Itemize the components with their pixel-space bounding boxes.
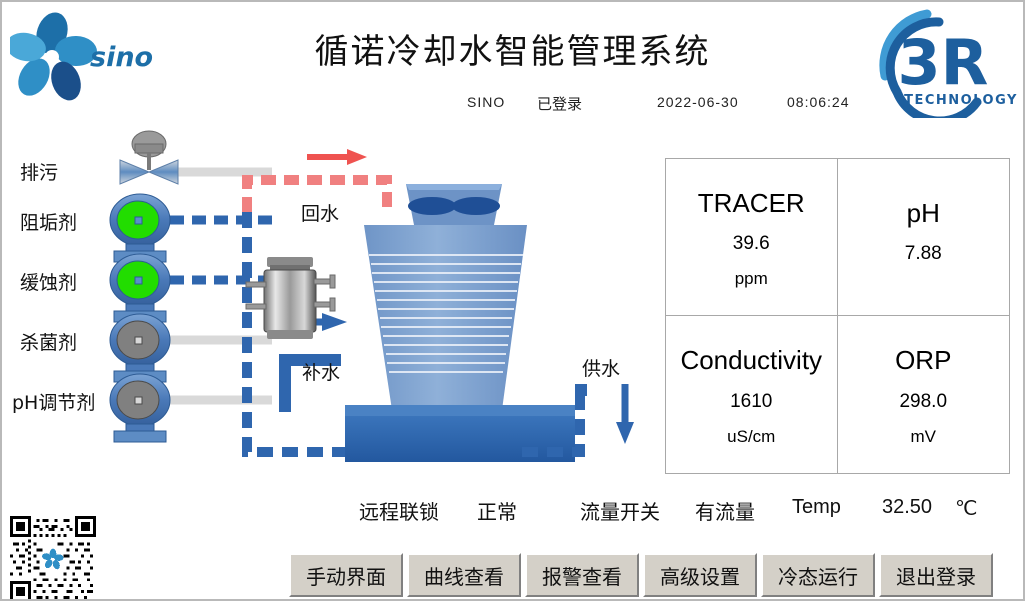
status-bar: 远程联锁 正常 流量开关 有流量 Temp 32.50 ℃ — [2, 496, 1023, 530]
qr-code[interactable] — [10, 516, 96, 601]
measurement-name: pH — [907, 199, 940, 228]
temperature-value: 32.50 — [882, 496, 932, 519]
label-supply-water: 供水 — [582, 354, 620, 381]
flow-switch-value: 有流量 — [695, 496, 755, 525]
supply-water-arrow — [616, 384, 634, 444]
measurement-value: 7.88 — [905, 243, 942, 265]
measurement-name: Conductivity — [680, 346, 822, 375]
cold-run-button[interactable]: 冷态运行 — [761, 553, 875, 597]
measurement-value: 298.0 — [899, 391, 947, 413]
cooling-tower — [345, 184, 575, 462]
label-makeup-water: 补水 — [302, 358, 340, 385]
label-corrosion-inhibitor: 缓蚀剂 — [20, 268, 77, 295]
current-user: SINO — [467, 94, 505, 110]
measurement-unit: mV — [911, 427, 937, 447]
logout-button[interactable]: 退出登录 — [879, 553, 993, 597]
remote-interlock-value: 正常 — [477, 496, 517, 525]
temperature-label: Temp — [792, 496, 841, 519]
manual-interface-button[interactable]: 手动界面 — [289, 553, 403, 597]
advanced-settings-button[interactable]: 高级设置 — [643, 553, 757, 597]
measurement-card-conductivity[interactable]: Conductivity 1610 uS/cm — [666, 316, 838, 473]
measurement-unit: ppm — [735, 269, 768, 289]
alarm-view-button[interactable]: 报警查看 — [525, 553, 639, 597]
process-flow-diagram: 排污 阻垢剂 缓蚀剂 杀菌剂 pH调节剂 回水 补水 供水 — [2, 122, 662, 482]
measurement-value: 39.6 — [733, 233, 770, 255]
measurement-value: 1610 — [730, 391, 772, 413]
dosing-pump-corrosion-inhibitor[interactable] — [110, 254, 170, 322]
supply-pipe-cap — [575, 384, 587, 396]
analyzer-vessel — [246, 257, 335, 339]
flow-switch-label: 流量开关 — [580, 496, 660, 525]
application-window: sino 3R TECHNOLOGY 循诺冷却水智能管理系统 SINO 已登录 … — [0, 0, 1025, 601]
dosing-pump-scale-inhibitor[interactable] — [110, 194, 170, 262]
measurement-card-ph[interactable]: pH 7.88 — [838, 159, 1010, 316]
measurement-card-orp[interactable]: ORP 298.0 mV — [838, 316, 1010, 473]
measurement-unit: uS/cm — [727, 427, 775, 447]
remote-interlock-label: 远程联锁 — [359, 496, 439, 525]
system-date: 2022-06-30 — [657, 94, 739, 110]
page-title: 循诺冷却水智能管理系统 — [2, 24, 1023, 73]
label-scale-inhibitor: 阻垢剂 — [20, 208, 77, 235]
active-dosing-lines — [170, 220, 272, 280]
login-status: 已登录 — [537, 93, 582, 114]
header-info-row: SINO 已登录 2022-06-30 08:06:24 — [2, 94, 1023, 114]
measurement-name: TRACER — [698, 189, 805, 218]
inactive-dosing-lines — [170, 340, 272, 400]
system-time: 08:06:24 — [787, 94, 850, 110]
label-biocide: 杀菌剂 — [20, 328, 77, 355]
measurement-name: ORP — [895, 346, 951, 375]
measurement-panel: TRACER 39.6 ppm pH 7.88 Conductivity 161… — [665, 158, 1010, 474]
measurement-card-tracer[interactable]: TRACER 39.6 ppm — [666, 159, 838, 316]
dosing-pump-biocide[interactable] — [110, 314, 170, 382]
label-ph-adjuster: pH调节剂 — [12, 388, 95, 415]
label-blowdown: 排污 — [20, 158, 58, 185]
curve-view-button[interactable]: 曲线查看 — [407, 553, 521, 597]
temperature-unit: ℃ — [955, 496, 977, 521]
blowdown-valve[interactable] — [120, 131, 178, 184]
return-water-arrow — [307, 149, 367, 165]
button-bar: 手动界面 曲线查看 报警查看 高级设置 冷态运行 退出登录 — [289, 553, 993, 597]
dosing-pump-ph-adjuster[interactable] — [110, 374, 170, 442]
label-return-water: 回水 — [301, 199, 339, 226]
